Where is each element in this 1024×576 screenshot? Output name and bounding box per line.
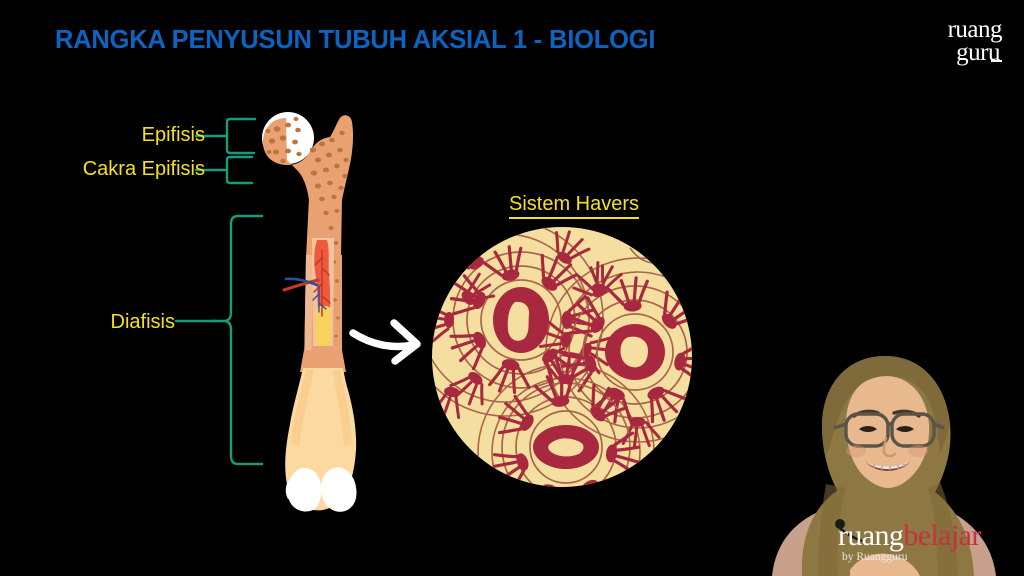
label-sistem-havers-text: Sistem Havers [509, 193, 639, 215]
bone-distal-stripe-right [332, 370, 352, 446]
spongy-bone-trabeculae [265, 117, 348, 353]
yellow-bone-marrow [316, 306, 331, 346]
watermark-ruang: ruang [838, 519, 903, 552]
watermark-subtitle: by Ruangguru [842, 552, 981, 564]
vein-branches [313, 286, 326, 312]
ruangguru-logo: ruang guru [892, 18, 1002, 74]
ruangbelajar-watermark: ruangbelajar by Ruangguru [838, 521, 981, 564]
watermark-belajar: belajar [903, 519, 980, 552]
slide-canvas: RANGKA PENYUSUN TUBUH AKSIAL 1 - BIOLOGI… [0, 0, 1024, 576]
logo-line-ruang: ruang [892, 18, 1002, 41]
logo-line-guru: guru [892, 41, 1002, 64]
bone-distal-stripe-left [291, 370, 314, 446]
interstitial-lamellae [407, 220, 730, 540]
medullary-cavity-cutaway [312, 238, 334, 346]
bone-distal-metaphysis-ring [300, 350, 346, 372]
bone-distal-epiphysis [285, 368, 356, 510]
presenter-cheek-left [846, 445, 866, 457]
arrow-head [394, 323, 417, 361]
presenter-cheek-right [908, 445, 928, 457]
medial-condyle [287, 468, 321, 512]
haversian-canal-lumen-2 [620, 337, 648, 368]
interstitial-osteocytes [433, 262, 623, 419]
bone-matrix-disc [432, 227, 692, 487]
haversian-system-diagram [407, 220, 730, 542]
red-bone-marrow [314, 240, 330, 318]
label-underline [509, 217, 639, 219]
bone-shaft-highlight [304, 255, 313, 372]
flow-arrow [353, 323, 417, 361]
femoral-head-cartilage [262, 112, 314, 164]
osteocytes-2 [538, 262, 728, 447]
arrow-shaft [353, 333, 414, 347]
label-epifisis: Epifisis [142, 124, 205, 147]
osteon-2 [538, 262, 728, 447]
artery-branches [314, 250, 330, 316]
osteocytes-3 [479, 354, 656, 542]
logo-line-guru-text: guru [956, 39, 1000, 66]
lateral-condyle [321, 467, 357, 511]
nutrient-vein [286, 279, 317, 285]
haversian-canal-3 [533, 425, 599, 469]
label-sistem-havers: Sistem Havers [509, 193, 639, 219]
bone-proximal-epiphysis [263, 115, 353, 200]
osteon-1 [424, 225, 618, 411]
haversian-canal-lumen-1 [508, 302, 529, 341]
haversian-canal-2 [605, 324, 665, 380]
osteon-3 [479, 354, 656, 542]
femur-illustration [262, 112, 357, 512]
osteocytes-1 [424, 225, 618, 411]
blood-vessels [284, 250, 330, 316]
condyle-notch-highlight [286, 481, 293, 499]
logo-underscore [991, 60, 1002, 62]
nutrient-artery [284, 280, 318, 290]
bone-metaphysis [306, 198, 342, 258]
label-diafisis: Diafisis [111, 311, 175, 334]
haversian-canal-lumen-3 [548, 438, 583, 456]
label-cakra-epifisis: Cakra Epifisis [83, 158, 205, 181]
haversian-canal-1 [493, 287, 549, 353]
bracket-diafisis [212, 216, 262, 464]
bone-diaphysis-shaft [304, 255, 342, 372]
page-title: RANGKA PENYUSUN TUBUH AKSIAL 1 - BIOLOGI [55, 26, 655, 55]
